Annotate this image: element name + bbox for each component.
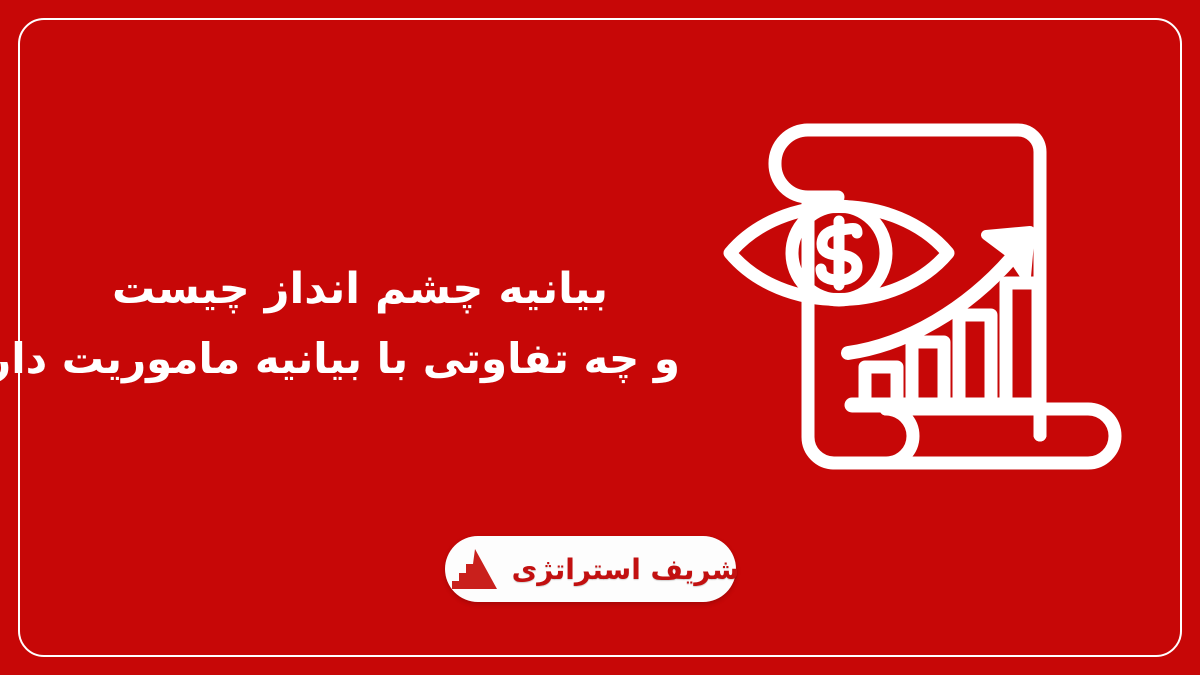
scroll-bottom-roll-cap: [886, 409, 913, 463]
mountain-logo-icon: [442, 547, 498, 591]
chart-bar-1: [865, 367, 897, 401]
chart-bar-3: [959, 315, 991, 401]
brand-badge-label: شریف استراتژی: [512, 553, 740, 586]
page-title: بیانیه چشم انداز چیست و چه تفاوتی با بیا…: [40, 255, 680, 393]
scroll-top-curl: [775, 130, 838, 197]
headline-line-2: و چه تفاوتی با بیانیه ماموریت دارد؟: [40, 325, 680, 393]
headline-line-1: بیانیه چشم انداز چیست: [40, 255, 680, 325]
scroll-bottom-roll: [834, 409, 1115, 463]
chart-bar-4: [1006, 283, 1038, 401]
banner-root: بیانیه چشم انداز چیست و چه تفاوتی با بیا…: [0, 0, 1200, 675]
chart-bar-2: [912, 342, 944, 401]
vision-statement-scroll-icon: [700, 105, 1140, 505]
brand-badge[interactable]: شریف استراتژی: [445, 536, 736, 602]
